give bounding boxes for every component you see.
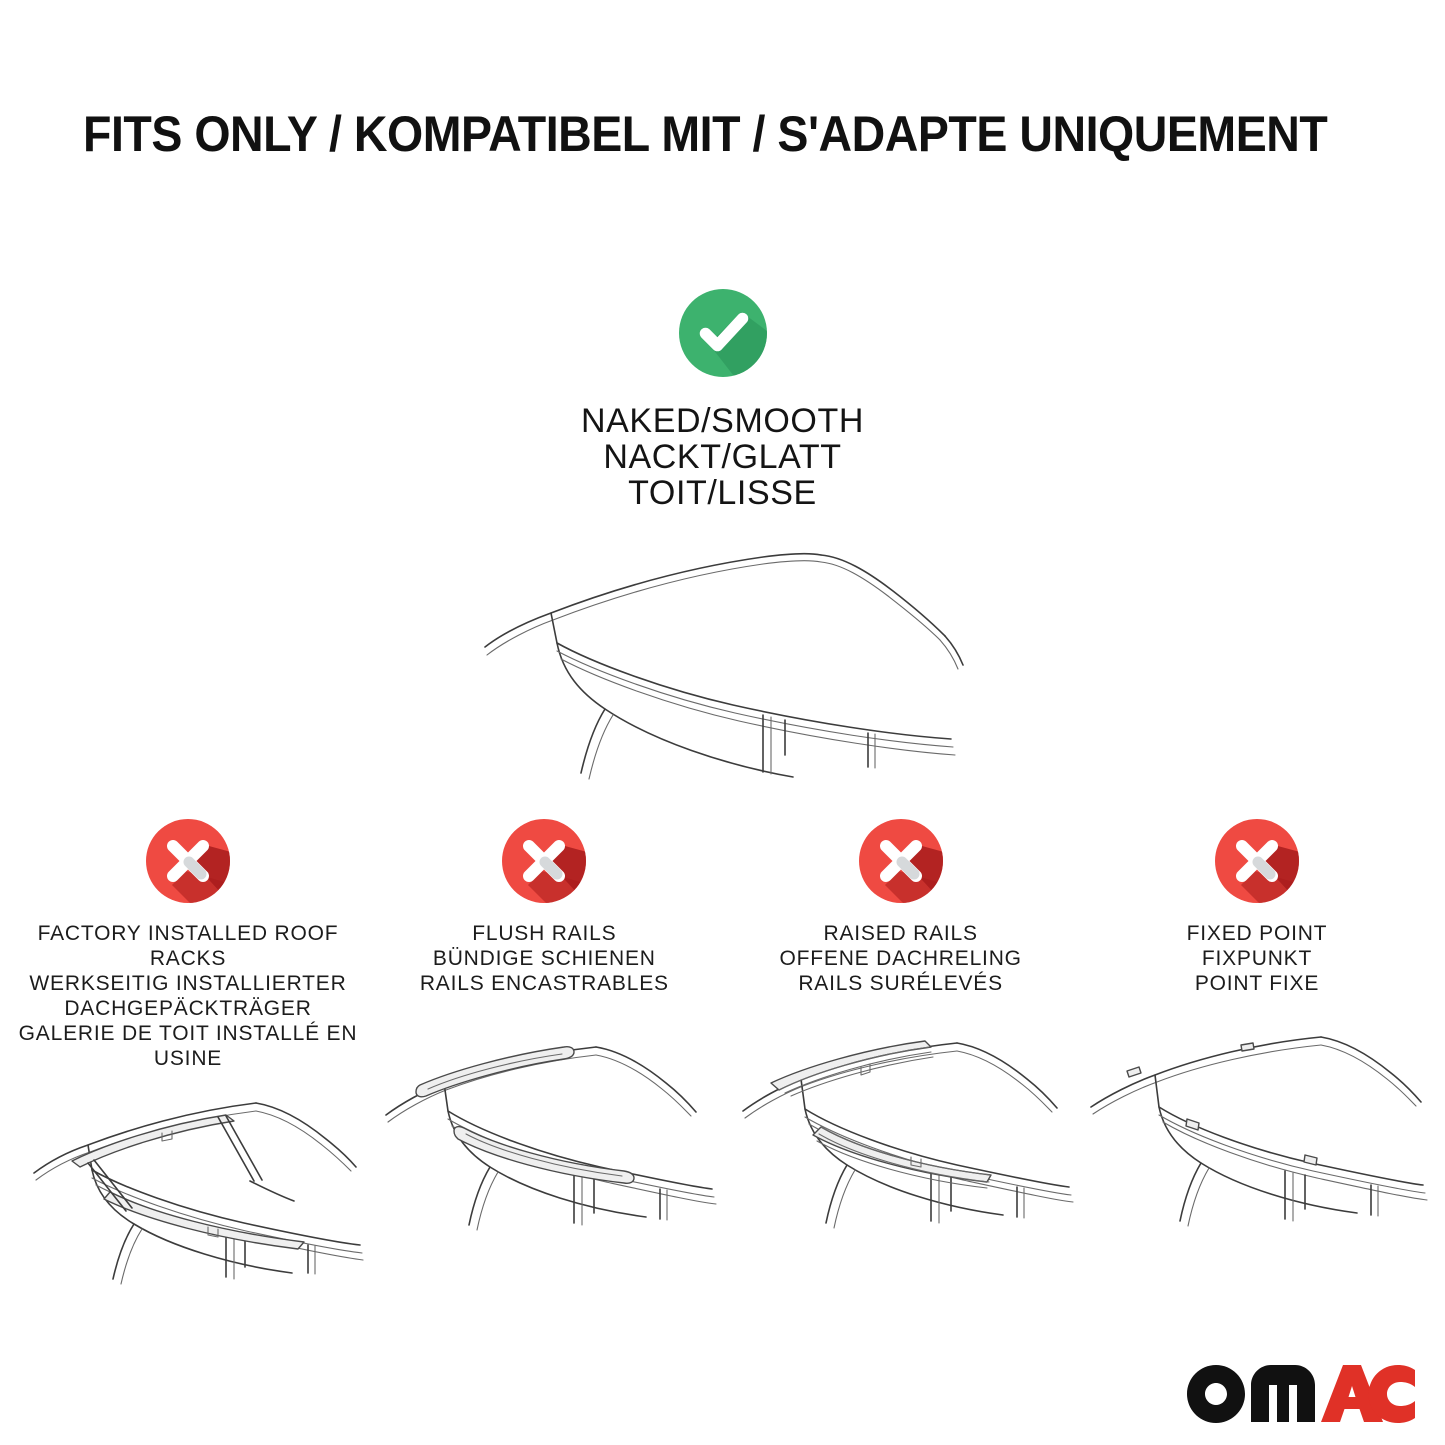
compatible-roof-type-block: NAKED/SMOOTH NACKT/GLATT TOIT/LISSE bbox=[0, 285, 1445, 784]
label-fr: RAILS ENCASTRABLES bbox=[420, 971, 669, 996]
omac-logo bbox=[1185, 1361, 1417, 1423]
incompatible-item-fixed-point: FIXED POINT FIXPUNKT POINT FIXE bbox=[1079, 815, 1435, 1242]
label-de-line2: DACHGEPÄCKTRÄGER bbox=[10, 996, 366, 1021]
incompatible-item-raised-rails: RAISED RAILS OFFENE DACHRELING RAILS SUR… bbox=[723, 815, 1079, 1242]
car-roof-with-raised-rails bbox=[725, 1027, 1077, 1242]
incompatible-roof-types-grid: FACTORY INSTALLED ROOF RACKS WERKSEITIG … bbox=[0, 815, 1445, 1292]
incompatible-item-labels: FLUSH RAILS BÜNDIGE SCHIENEN RAILS ENCAS… bbox=[420, 921, 669, 1021]
label-fr: POINT FIXE bbox=[1187, 971, 1328, 996]
label-en: FACTORY INSTALLED ROOF RACKS bbox=[10, 921, 366, 971]
cross-circle-icon bbox=[855, 815, 947, 907]
label-de: NACKT/GLATT bbox=[581, 439, 864, 475]
check-circle-icon bbox=[675, 285, 771, 381]
car-roof-with-factory-rails-and-crossbars bbox=[12, 1077, 364, 1292]
cross-circle-icon bbox=[1211, 815, 1303, 907]
label-de: FIXPUNKT bbox=[1187, 946, 1328, 971]
bare-smooth-car-roof-illustration bbox=[463, 529, 983, 784]
incompatible-item-labels: RAISED RAILS OFFENE DACHRELING RAILS SUR… bbox=[780, 921, 1022, 1021]
cross-circle-icon bbox=[498, 815, 590, 907]
incompatible-item-labels: FACTORY INSTALLED ROOF RACKS WERKSEITIG … bbox=[10, 921, 366, 1071]
car-roof-with-flush-rails bbox=[368, 1027, 720, 1242]
incompatible-item-labels: FIXED POINT FIXPUNKT POINT FIXE bbox=[1187, 921, 1328, 1021]
label-de: OFFENE DACHRELING bbox=[780, 946, 1022, 971]
car-roof-with-fixed-points bbox=[1081, 1027, 1433, 1242]
label-de: BÜNDIGE SCHIENEN bbox=[420, 946, 669, 971]
label-fr: TOIT/LISSE bbox=[581, 475, 864, 511]
incompatible-item-flush-rails: FLUSH RAILS BÜNDIGE SCHIENEN RAILS ENCAS… bbox=[366, 815, 722, 1242]
label-en: NAKED/SMOOTH bbox=[581, 403, 864, 439]
cross-circle-icon bbox=[142, 815, 234, 907]
compatible-roof-type-labels: NAKED/SMOOTH NACKT/GLATT TOIT/LISSE bbox=[581, 403, 864, 511]
label-en: FLUSH RAILS bbox=[420, 921, 669, 946]
incompatible-item-factory-installed-roof-racks: FACTORY INSTALLED ROOF RACKS WERKSEITIG … bbox=[10, 815, 366, 1292]
label-en: RAISED RAILS bbox=[780, 921, 1022, 946]
page-title: FITS ONLY / KOMPATIBEL MIT / S'ADAPTE UN… bbox=[83, 104, 1283, 164]
label-fr: GALERIE DE TOIT INSTALLÉ EN USINE bbox=[10, 1021, 366, 1071]
label-de-line1: WERKSEITIG INSTALLIERTER bbox=[10, 971, 366, 996]
label-fr: RAILS SURÉLEVÉS bbox=[780, 971, 1022, 996]
label-en: FIXED POINT bbox=[1187, 921, 1328, 946]
